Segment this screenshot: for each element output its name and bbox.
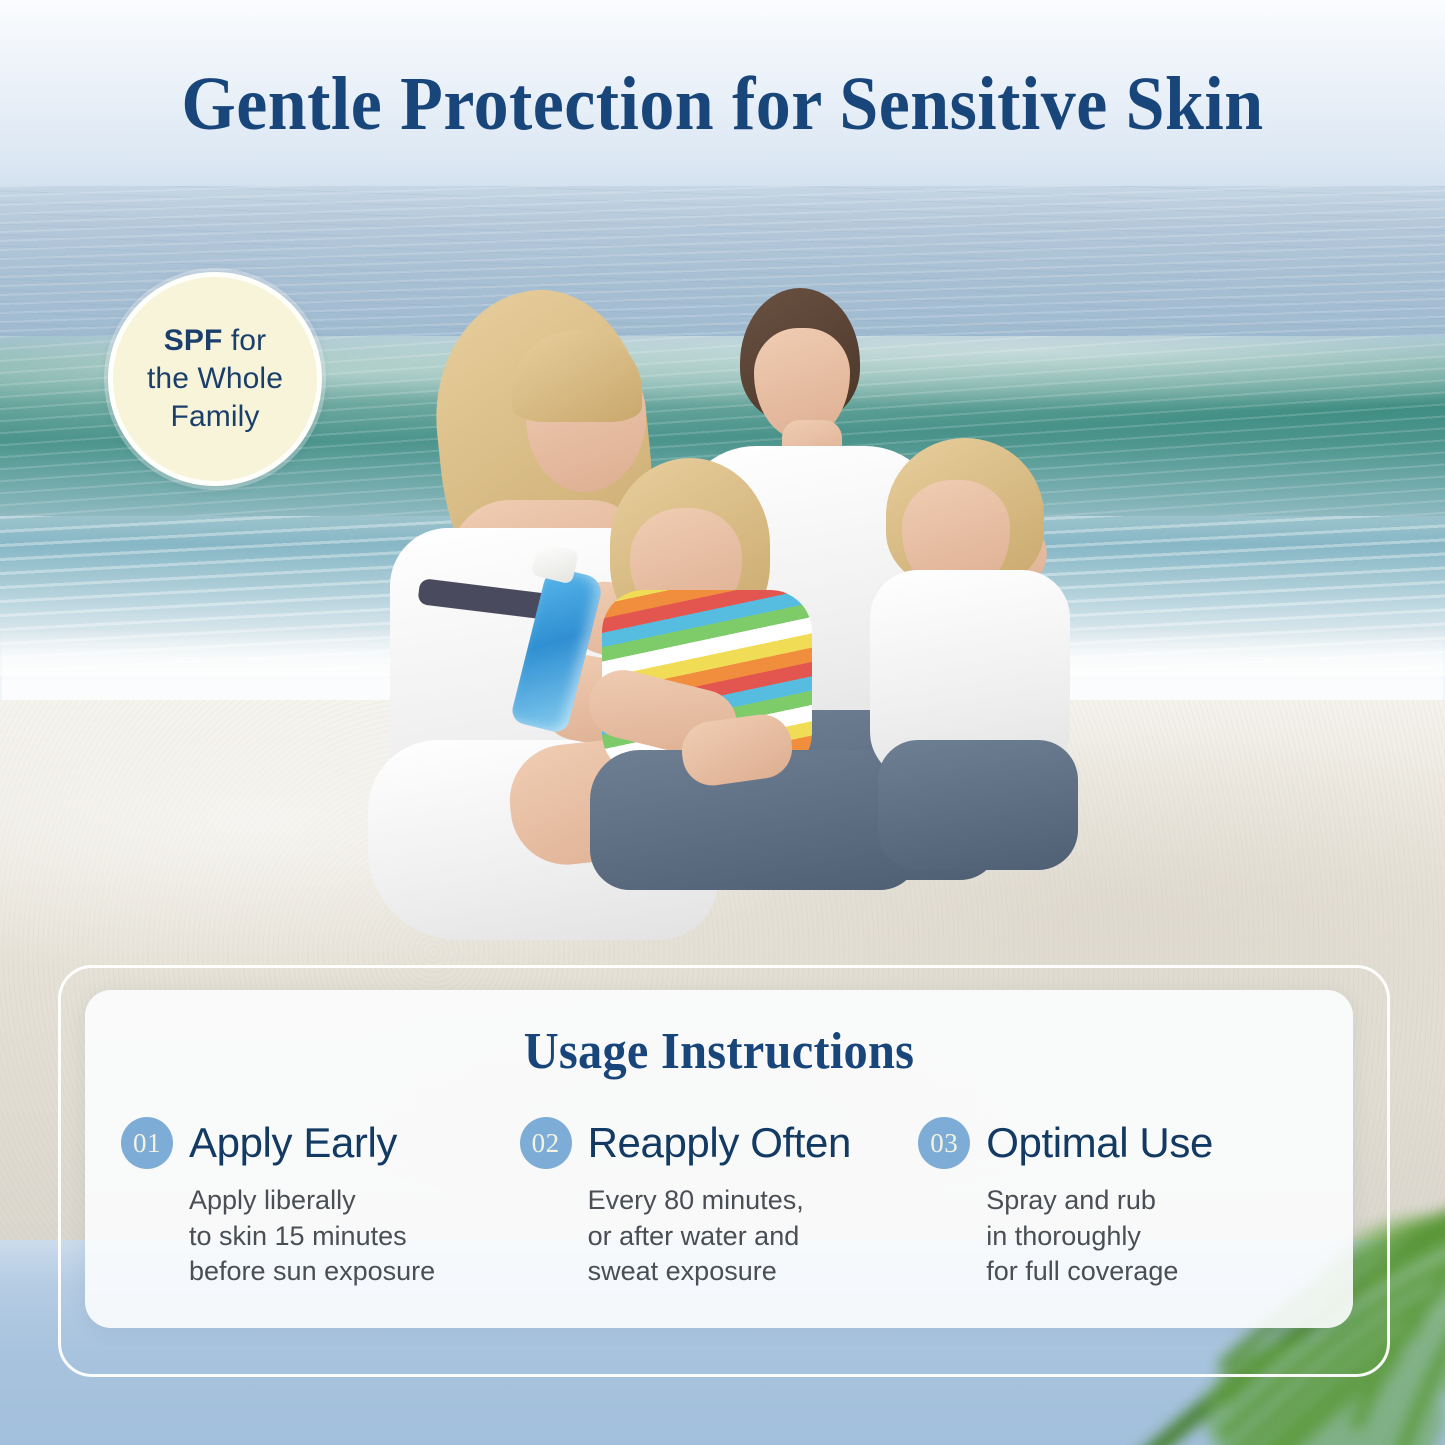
usage-panel-heading: Usage Instructions <box>129 1022 1308 1081</box>
usage-step-03-head: 03 Optimal Use <box>918 1117 1317 1169</box>
page-title: Gentle Protection for Sensitive Skin <box>58 66 1387 142</box>
usage-step-03-title: Optimal Use <box>986 1122 1213 1164</box>
son-shorts <box>878 740 1078 870</box>
usage-step-03-body: Spray and rub in thoroughly for full cov… <box>986 1183 1317 1290</box>
usage-step-01-title: Apply Early <box>189 1122 397 1164</box>
usage-step-03-number: 03 <box>918 1117 970 1169</box>
usage-step-01-head: 01 Apply Early <box>121 1117 520 1169</box>
spf-badge-bold-label: SPF <box>164 324 223 357</box>
spf-badge: SPF for the Whole Family <box>108 272 322 486</box>
beach-family-photo <box>330 270 1120 910</box>
usage-instructions-panel: Usage Instructions 01 Apply Early Apply … <box>85 990 1353 1328</box>
usage-step-01-body: Apply liberally to skin 15 minutes befor… <box>189 1183 520 1290</box>
usage-step-03: 03 Optimal Use Spray and rub in thorough… <box>918 1117 1317 1290</box>
usage-step-02-number: 02 <box>520 1117 572 1169</box>
usage-step-02-body: Every 80 minutes, or after water and swe… <box>588 1183 919 1290</box>
poster-canvas: Gentle Protection for Sensitive Skin SPF… <box>0 0 1445 1445</box>
usage-step-02-title: Reapply Often <box>588 1122 851 1164</box>
usage-step-02-head: 02 Reapply Often <box>520 1117 919 1169</box>
usage-step-01: 01 Apply Early Apply liberally to skin 1… <box>121 1117 520 1290</box>
usage-steps-list: 01 Apply Early Apply liberally to skin 1… <box>85 1117 1353 1290</box>
spf-badge-text: SPF for the Whole Family <box>147 322 283 435</box>
usage-step-02: 02 Reapply Often Every 80 minutes, or af… <box>520 1117 919 1290</box>
usage-step-01-number: 01 <box>121 1117 173 1169</box>
